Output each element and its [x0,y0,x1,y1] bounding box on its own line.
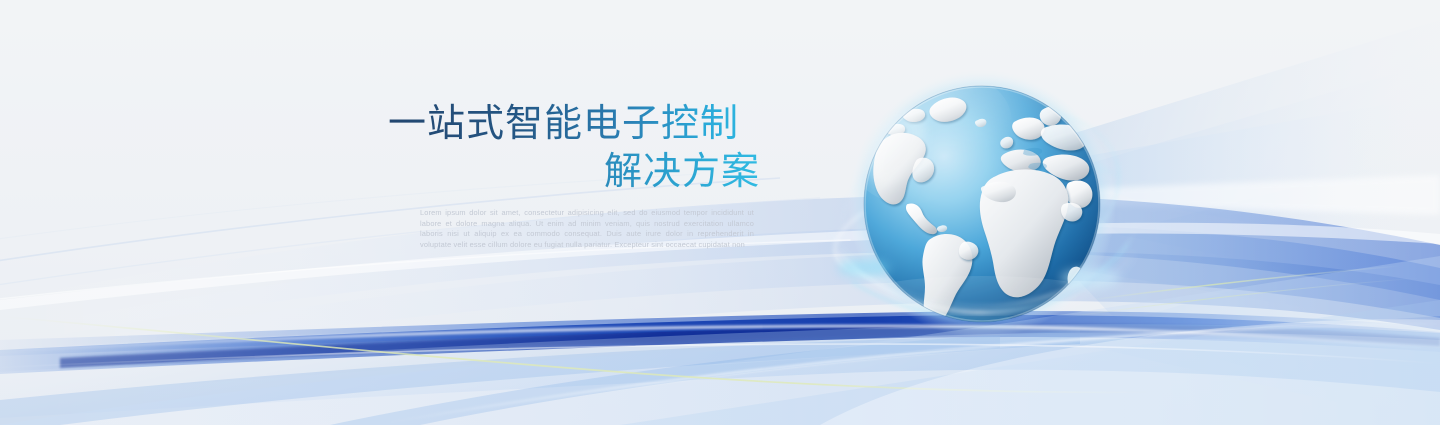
headline-line-2: 解决方案 [388,148,760,196]
headline-line-1: 一站式智能电子控制 [388,100,760,148]
hero-banner: 一站式智能电子控制 解决方案 Lorem ipsum dolor sit ame… [0,0,1440,425]
body-copy-paragraph: Lorem ipsum dolor sit amet, consectetur … [420,208,754,250]
globe-svg [828,54,1138,354]
text-block: 一站式智能电子控制 解决方案 Lorem ipsum dolor sit ame… [388,100,760,258]
globe [828,54,1138,354]
